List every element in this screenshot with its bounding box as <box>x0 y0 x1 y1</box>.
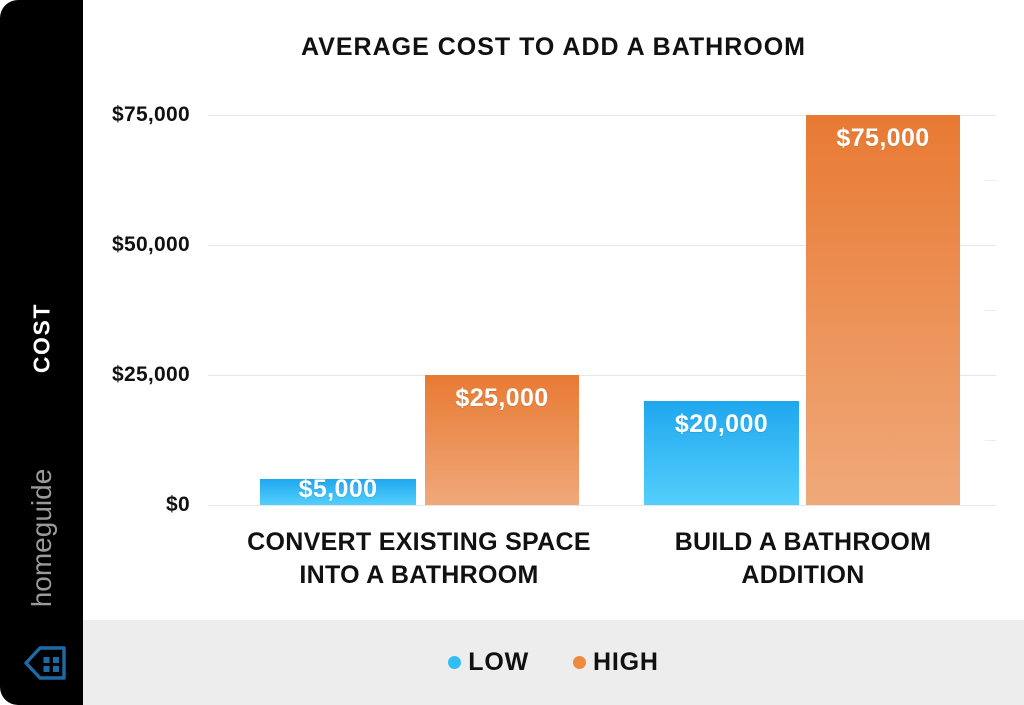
bar-value-label: $20,000 <box>644 410 799 439</box>
chart-legend: LOW HIGH <box>83 620 1024 705</box>
bar-value-label: $25,000 <box>425 384 579 413</box>
bar-value-label: $75,000 <box>806 124 960 153</box>
legend-label: LOW <box>468 648 529 677</box>
category-label-convert: CONVERT EXISTING SPACE INTO A BATHROOM <box>210 526 628 592</box>
category-label-line: CONVERT EXISTING SPACE <box>210 526 628 559</box>
y-tick-label: $25,000 <box>60 363 190 387</box>
minor-tick-3 <box>985 440 996 441</box>
legend-item-high[interactable]: HIGH <box>573 648 659 677</box>
minor-tick-2 <box>985 310 996 311</box>
house-grid-icon <box>24 646 66 680</box>
legend-dot-icon <box>573 656 586 669</box>
chart-screenshot: COST homeguide AVERAGE COST TO ADD A BAT… <box>0 0 1024 705</box>
brand-wordmark: homeguide <box>26 469 58 608</box>
y-tick-label: $50,000 <box>60 233 190 257</box>
category-label-line: INTO A BATHROOM <box>210 559 628 592</box>
bar-high-convert[interactable]: $25,000 <box>425 375 579 505</box>
legend-item-low[interactable]: LOW <box>448 648 529 677</box>
y-tick-label: $0 <box>60 493 190 517</box>
category-label-addition: BUILD A BATHROOM ADDITION <box>628 526 978 592</box>
category-label-line: BUILD A BATHROOM <box>628 526 978 559</box>
y-axis-tick-labels: $75,000 $50,000 $25,000 $0 <box>60 0 190 620</box>
bar-high-addition[interactable]: $75,000 <box>806 115 960 505</box>
category-label-line: ADDITION <box>628 559 978 592</box>
gridline-0 <box>208 505 996 506</box>
y-tick-label: $75,000 <box>60 103 190 127</box>
bar-low-addition[interactable]: $20,000 <box>644 401 799 505</box>
bar-low-convert[interactable]: $5,000 <box>260 479 416 505</box>
bar-value-label: $5,000 <box>260 479 416 504</box>
legend-label: HIGH <box>593 648 659 677</box>
chart-title: AVERAGE COST TO ADD A BATHROOM <box>83 33 1024 62</box>
legend-dot-icon <box>448 656 461 669</box>
y-axis-title-label: COST <box>28 303 55 373</box>
minor-tick-1 <box>985 180 996 181</box>
